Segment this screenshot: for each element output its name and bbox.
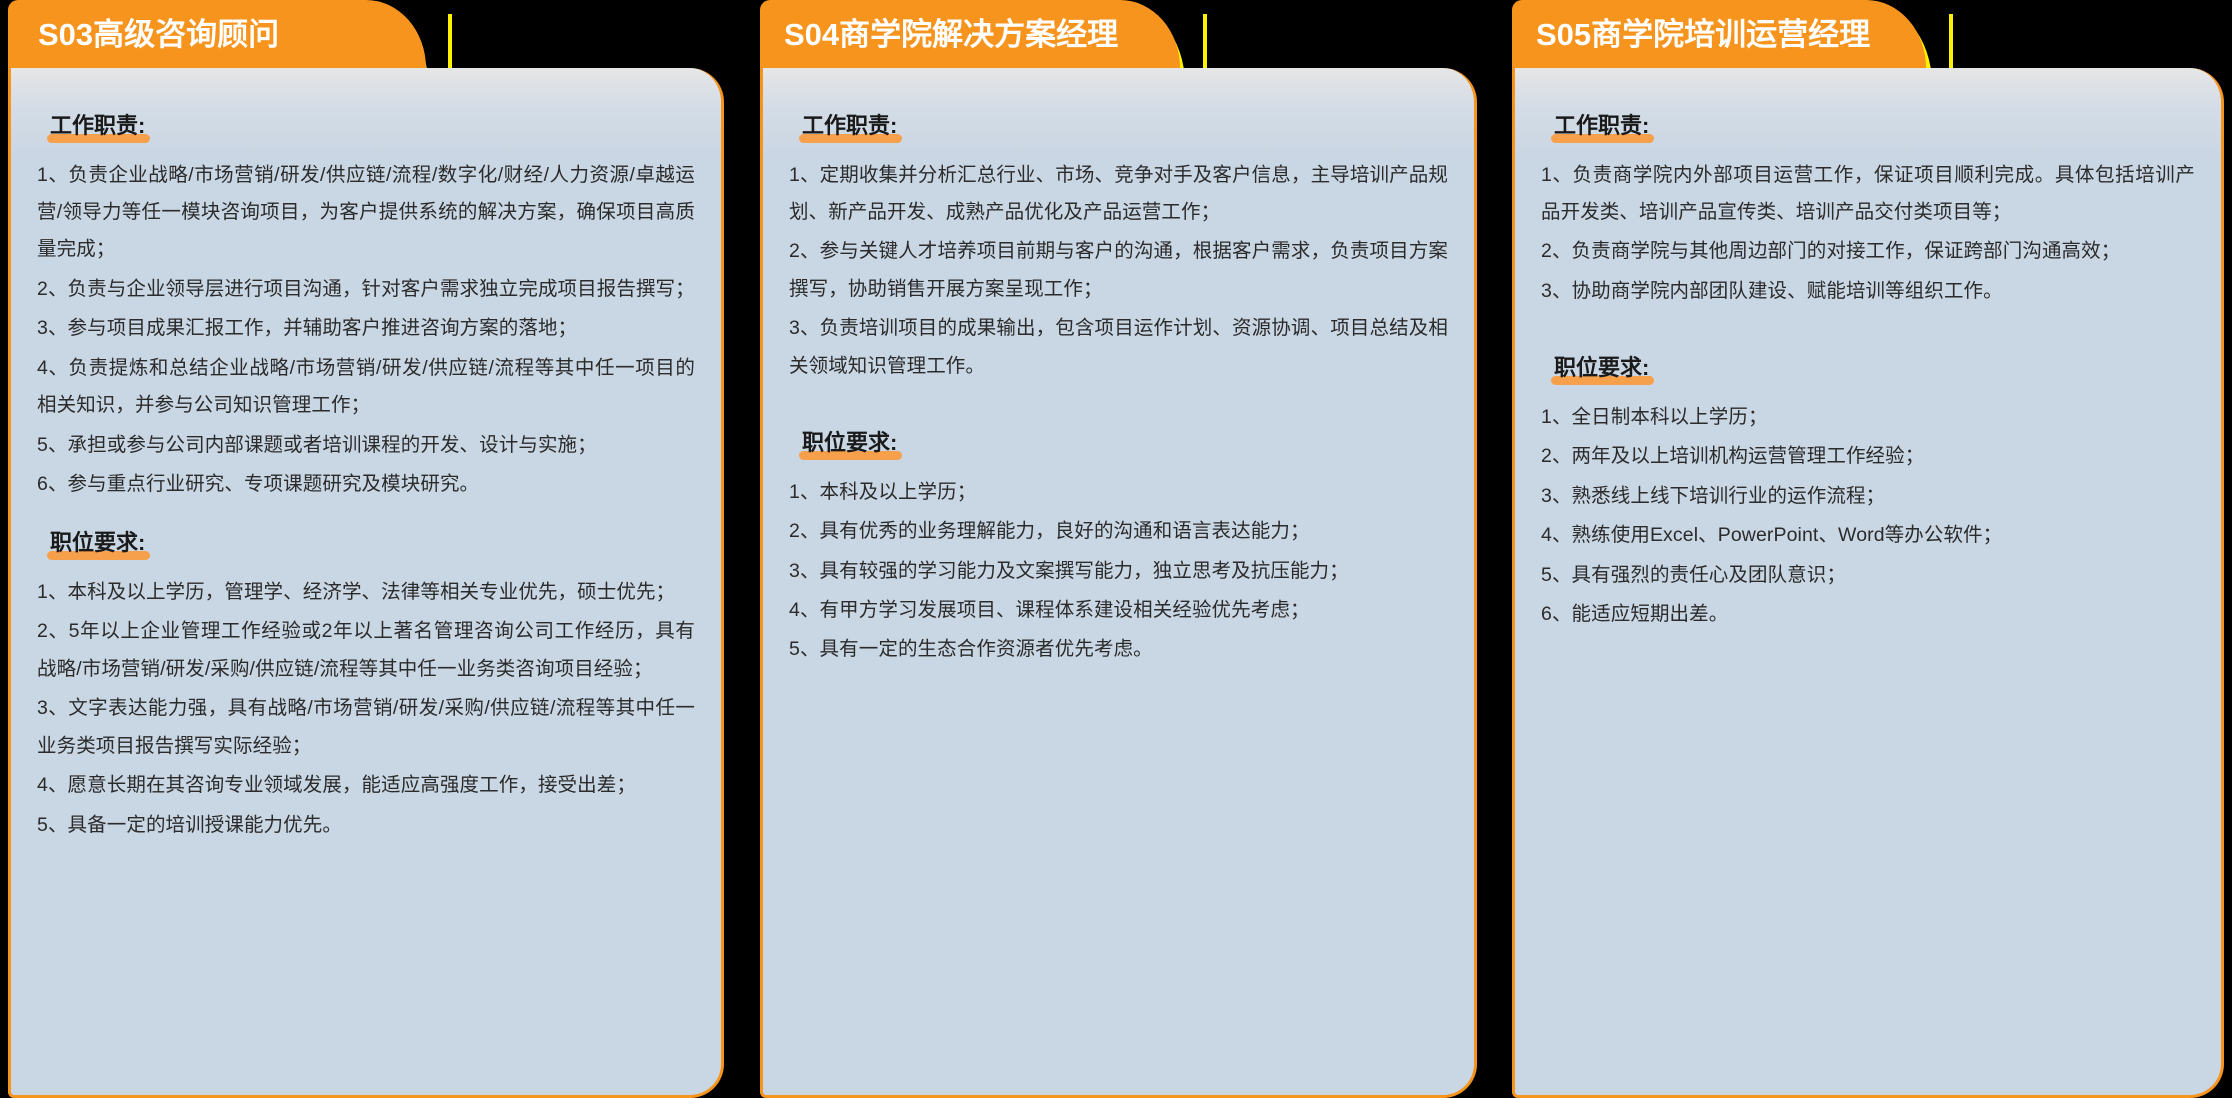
job-card-header: S05商学院培训运营经理 [1512, 0, 1926, 68]
list-item: 2、负责商学院与其他周边部门的对接工作，保证跨部门沟通高效； [1541, 233, 2195, 270]
list-item: 4、有甲方学习发展项目、课程体系建设相关经验优先考虑； [789, 592, 1448, 629]
list-item: 3、熟悉线上线下培训行业的运作流程； [1541, 478, 2195, 515]
requirements-list: 1、本科及以上学历； 2、具有优秀的业务理解能力，良好的沟通和语言表达能力； 3… [789, 474, 1448, 669]
list-item: 2、参与关键人才培养项目前期与客户的沟通，根据客户需求，负责项目方案撰写，协助销… [789, 233, 1448, 308]
list-item: 1、定期收集并分析汇总行业、市场、竞争对手及客户信息，主导培训产品规划、新产品开… [789, 157, 1448, 232]
section-heading-duties: 工作职责: [1551, 112, 1654, 143]
list-item: 1、本科及以上学历； [789, 474, 1448, 511]
list-item: 4、负责提炼和总结企业战略/市场营销/研发/供应链/流程等其中任一项目的相关知识… [37, 350, 695, 425]
job-card-s03: S03高级咨询顾问 工作职责: 1、负责企业战略/市场营销/研发/供应链/流程/… [8, 0, 724, 1098]
list-item: 3、负责培训项目的成果输出，包含项目运作计划、资源协调、项目总结及相关领域知识管… [789, 310, 1448, 385]
section-heading-requirements: 职位要求: [799, 429, 902, 460]
section-heading-duties: 工作职责: [47, 112, 150, 143]
job-card-body: 工作职责: 1、定期收集并分析汇总行业、市场、竞争对手及客户信息，主导培训产品规… [760, 68, 1477, 1098]
list-item: 1、全日制本科以上学历； [1541, 399, 2195, 436]
section-heading-requirements: 职位要求: [1551, 354, 1654, 385]
job-card-header: S04商学院解决方案经理 [760, 0, 1180, 68]
section-requirements: 职位要求: 1、全日制本科以上学历； 2、两年及以上培训机构运营管理工作经验； … [1541, 354, 2195, 633]
list-item: 2、负责与企业领导层进行项目沟通，针对客户需求独立完成项目报告撰写； [37, 271, 695, 308]
section-heading-duties: 工作职责: [799, 112, 902, 143]
list-item: 1、负责企业战略/市场营销/研发/供应链/流程/数字化/财经/人力资源/卓越运营… [37, 157, 695, 269]
duties-list: 1、定期收集并分析汇总行业、市场、竞争对手及客户信息，主导培训产品规划、新产品开… [789, 157, 1448, 386]
poster-canvas: S03高级咨询顾问 工作职责: 1、负责企业战略/市场营销/研发/供应链/流程/… [0, 0, 2232, 1098]
list-item: 3、协助商学院内部团队建设、赋能培训等组织工作。 [1541, 273, 2195, 310]
list-item: 4、熟练使用Excel、PowerPoint、Word等办公软件； [1541, 517, 2195, 554]
section-requirements: 职位要求: 1、本科及以上学历； 2、具有优秀的业务理解能力，良好的沟通和语言表… [789, 429, 1448, 669]
requirements-list: 1、全日制本科以上学历； 2、两年及以上培训机构运营管理工作经验； 3、熟悉线上… [1541, 399, 2195, 634]
job-card-body: 工作职责: 1、负责企业战略/市场营销/研发/供应链/流程/数字化/财经/人力资… [8, 68, 724, 1098]
section-heading-requirements: 职位要求: [47, 529, 150, 560]
job-card-s04: S04商学院解决方案经理 工作职责: 1、定期收集并分析汇总行业、市场、竞争对手… [760, 0, 1477, 1098]
section-duties: 工作职责: 1、定期收集并分析汇总行业、市场、竞争对手及客户信息，主导培训产品规… [789, 112, 1448, 385]
job-card-body: 工作职责: 1、负责商学院内外部项目运营工作，保证项目顺利完成。具体包括培训产品… [1512, 68, 2224, 1098]
job-card-s05: S05商学院培训运营经理 工作职责: 1、负责商学院内外部项目运营工作，保证项目… [1512, 0, 2224, 1098]
job-title: S03高级咨询顾问 [38, 19, 279, 50]
list-item: 5、具有强烈的责任心及团队意识； [1541, 557, 2195, 594]
job-card-header: S03高级咨询顾问 [8, 0, 426, 68]
list-item: 6、能适应短期出差。 [1541, 596, 2195, 633]
section-duties: 工作职责: 1、负责企业战略/市场营销/研发/供应链/流程/数字化/财经/人力资… [37, 112, 695, 503]
list-item: 2、5年以上企业管理工作经验或2年以上著名管理咨询公司工作经历，具有战略/市场营… [37, 613, 695, 688]
list-item: 6、参与重点行业研究、专项课题研究及模块研究。 [37, 466, 695, 503]
list-item: 1、本科及以上学历，管理学、经济学、法律等相关专业优先，硕士优先； [37, 574, 695, 611]
list-item: 3、具有较强的学习能力及文案撰写能力，独立思考及抗压能力； [789, 553, 1448, 590]
duties-list: 1、负责企业战略/市场营销/研发/供应链/流程/数字化/财经/人力资源/卓越运营… [37, 157, 695, 504]
section-requirements: 职位要求: 1、本科及以上学历，管理学、经济学、法律等相关专业优先，硕士优先； … [37, 529, 695, 844]
list-item: 2、两年及以上培训机构运营管理工作经验； [1541, 438, 2195, 475]
list-item: 4、愿意长期在其咨询专业领域发展，能适应高强度工作，接受出差； [37, 767, 695, 804]
list-item: 1、负责商学院内外部项目运营工作，保证项目顺利完成。具体包括培训产品开发类、培训… [1541, 157, 2195, 232]
requirements-list: 1、本科及以上学历，管理学、经济学、法律等相关专业优先，硕士优先； 2、5年以上… [37, 574, 695, 844]
duties-list: 1、负责商学院内外部项目运营工作，保证项目顺利完成。具体包括培训产品开发类、培训… [1541, 157, 2195, 311]
list-item: 2、具有优秀的业务理解能力，良好的沟通和语言表达能力； [789, 513, 1448, 550]
job-title: S04商学院解决方案经理 [784, 19, 1118, 50]
list-item: 5、具有一定的生态合作资源者优先考虑。 [789, 631, 1448, 668]
section-duties: 工作职责: 1、负责商学院内外部项目运营工作，保证项目顺利完成。具体包括培训产品… [1541, 112, 2195, 310]
list-item: 5、具备一定的培训授课能力优先。 [37, 807, 695, 844]
list-item: 3、参与项目成果汇报工作，并辅助客户推进咨询方案的落地； [37, 310, 695, 347]
job-title: S05商学院培训运营经理 [1536, 19, 1870, 50]
list-item: 5、承担或参与公司内部课题或者培训课程的开发、设计与实施； [37, 427, 695, 464]
list-item: 3、文字表达能力强，具有战略/市场营销/研发/采购/供应链/流程等其中任一业务类… [37, 690, 695, 765]
